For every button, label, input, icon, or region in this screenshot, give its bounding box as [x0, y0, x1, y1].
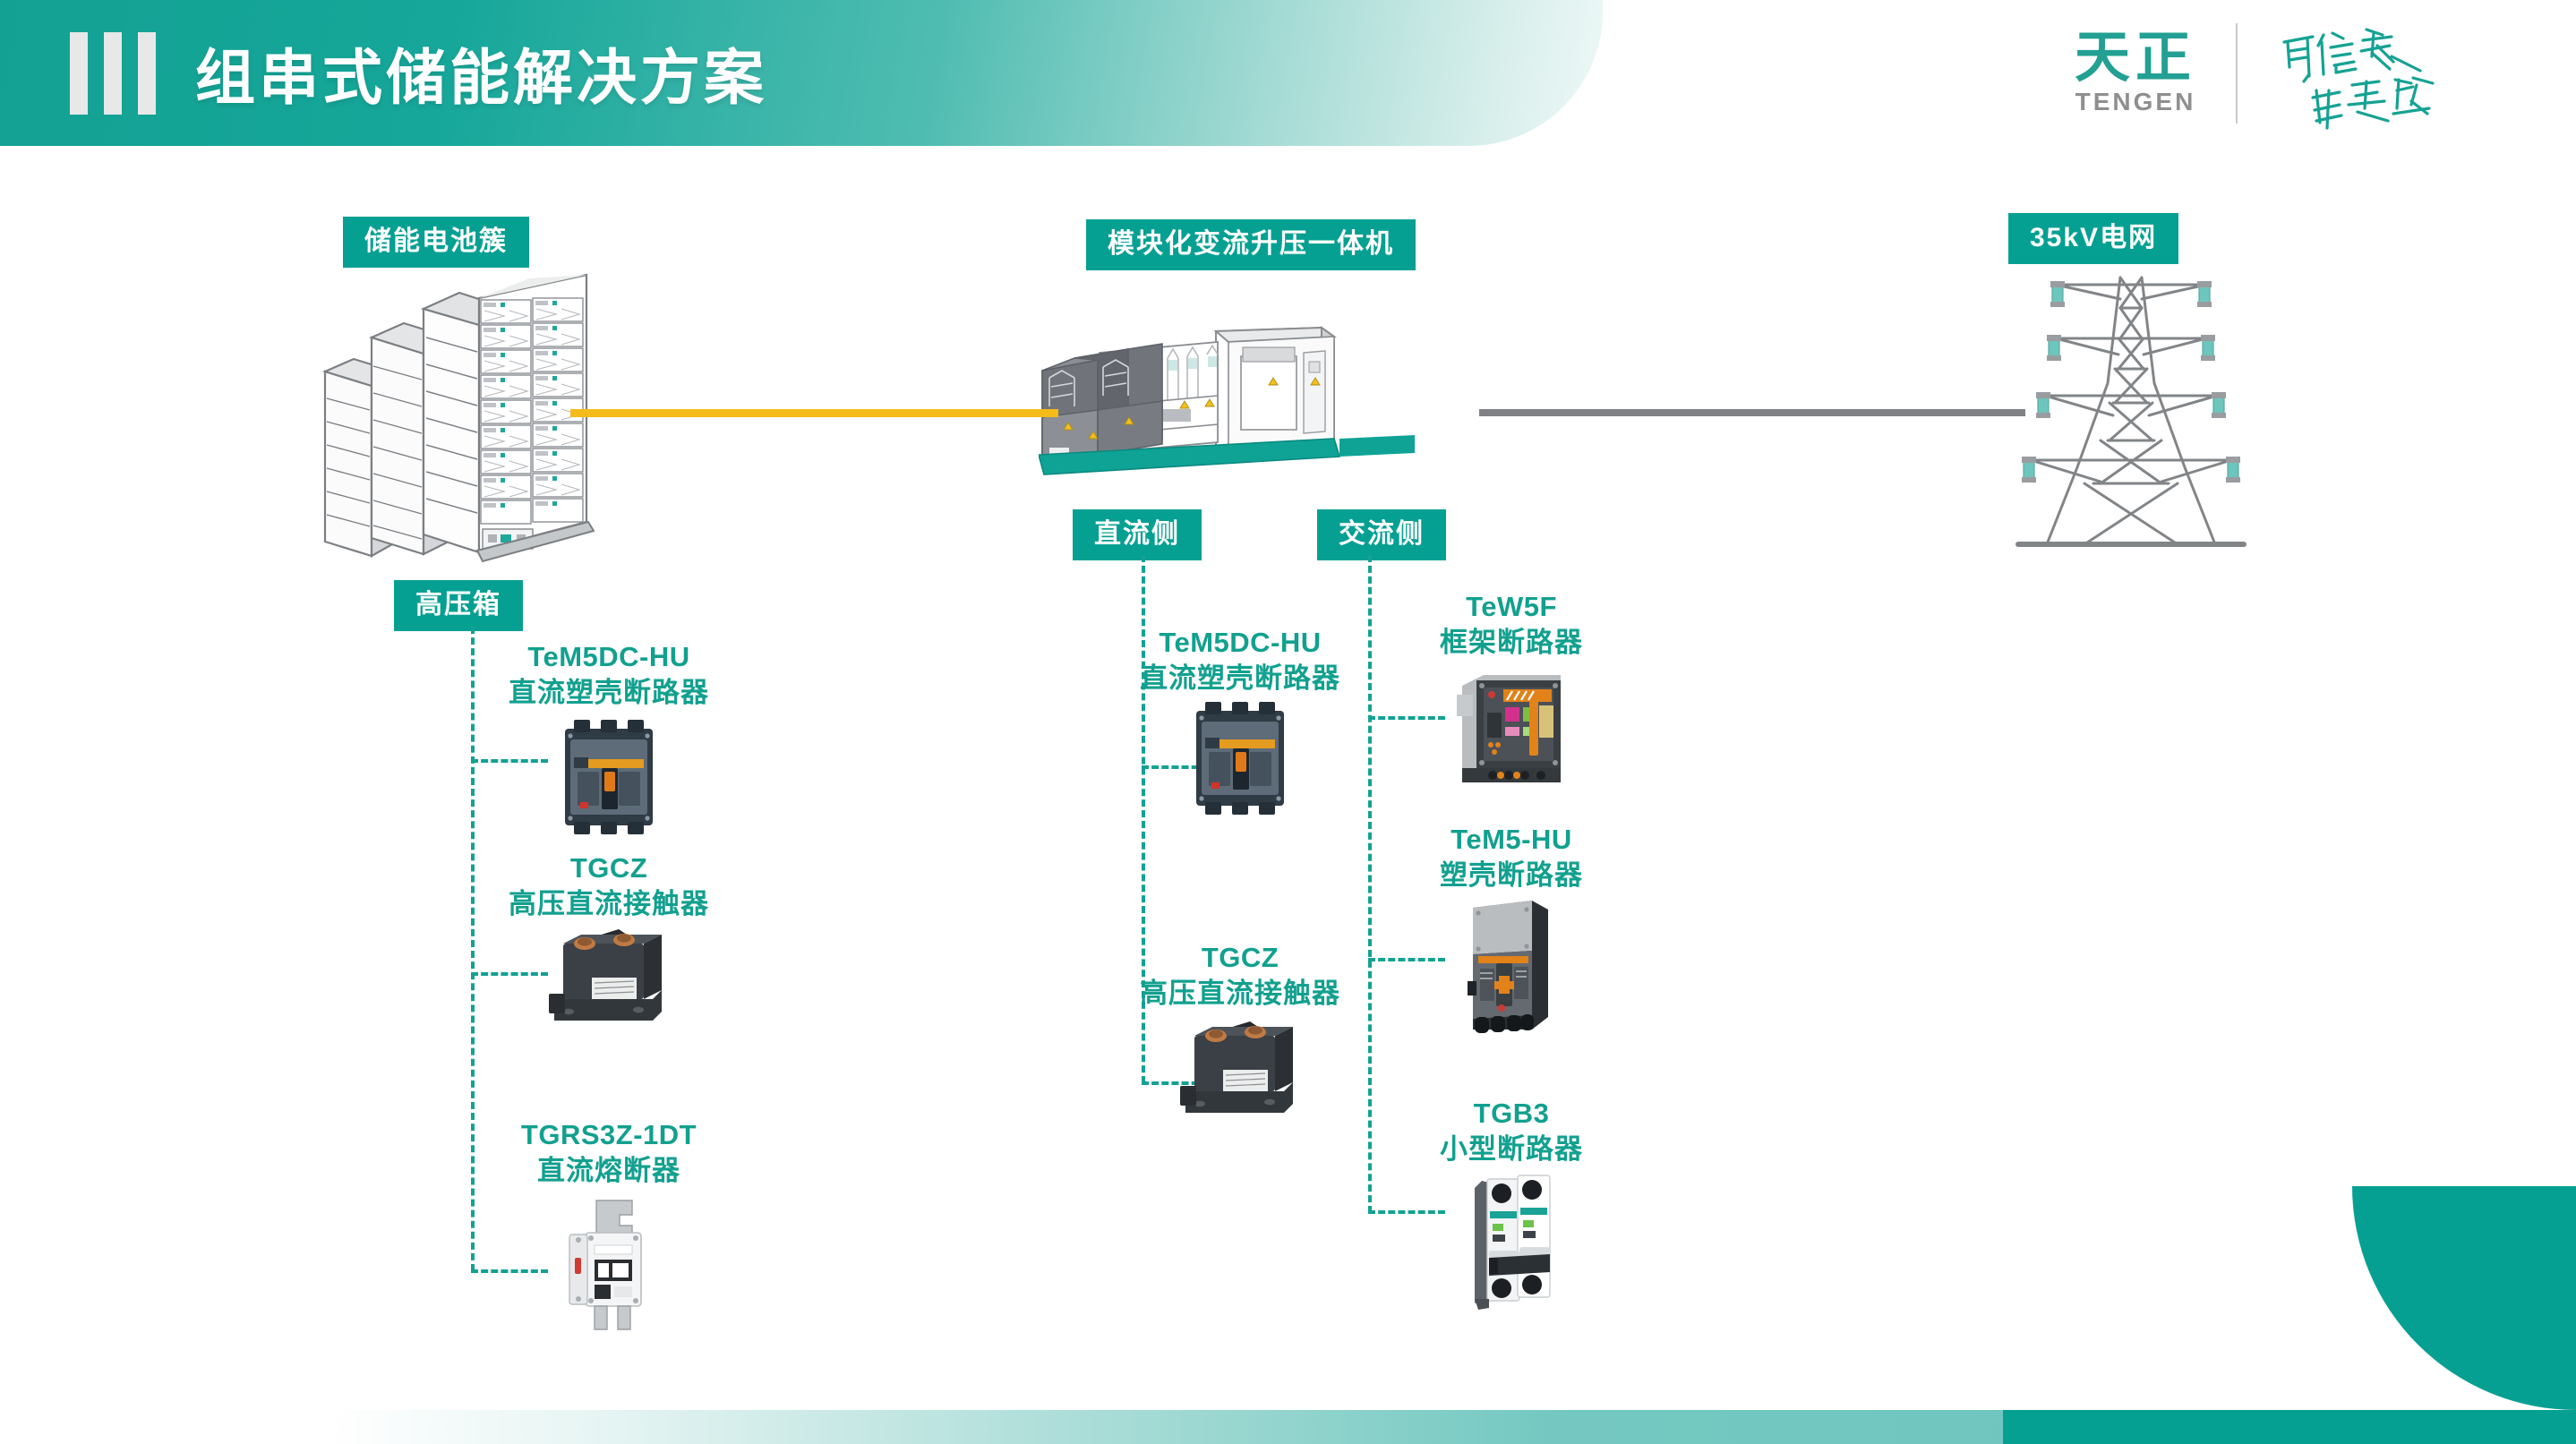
connector-branch-ac-1 [1368, 716, 1445, 720]
footer-gradient-bar [0, 1410, 2346, 1444]
brand-slogan-calligraphy [2277, 15, 2447, 132]
connector-branch-hvb-3 [471, 1269, 548, 1273]
product-desc: 小型断路器 [1440, 1132, 1583, 1167]
product-desc: 高压直流接触器 [1140, 976, 1340, 1012]
accent-bar-3 [138, 32, 156, 115]
mccb-dc-icon-hvb [551, 716, 667, 838]
connector-branch-ac-3 [1368, 1210, 1445, 1214]
product-desc: 直流塑壳断路器 [1140, 661, 1340, 696]
product-desc: 直流熔断器 [521, 1153, 697, 1189]
tag-grid: 35kV电网 [2008, 213, 2178, 264]
connector-branch-hvb-1 [471, 759, 548, 763]
battery-rack-illustration [318, 273, 604, 568]
miniature-circuit-breaker-icon [1462, 1168, 1561, 1313]
product-model: TGB3 [1440, 1096, 1583, 1132]
product-caption-hvb-2: TGCZ 高压直流接触器 [509, 850, 709, 923]
tengen-logo: 天正 TENGEN [2075, 30, 2196, 116]
page-header: 组串式储能解决方案 [0, 0, 1603, 146]
footer-solid-bar [2003, 1410, 2576, 1444]
tag-high-voltage-box: 高压箱 [394, 580, 523, 631]
product-desc: 高压直流接触器 [509, 886, 709, 922]
product-model: TGRS3Z-1DT [521, 1117, 697, 1153]
product-model: TeM5DC-HU [509, 639, 709, 675]
product-caption-hvb-3: TGRS3Z-1DT 直流熔断器 [521, 1117, 697, 1190]
ac-bus-line [1479, 409, 2025, 416]
product-caption-hvb-1: TeM5DC-HU 直流塑壳断路器 [509, 639, 709, 712]
product-desc: 框架断路器 [1440, 625, 1583, 661]
product-caption-ac-3: TGB3 小型断路器 [1440, 1096, 1583, 1168]
tag-battery-cluster: 储能电池簇 [343, 217, 529, 268]
header-accent-bars [70, 32, 156, 115]
brand-name-cn: 天正 [2075, 30, 2196, 86]
mccb-dc-icon-dcside [1183, 698, 1297, 818]
brand-name-en: TENGEN [2075, 88, 2196, 116]
footer-corner-curve [2352, 1186, 2576, 1410]
product-caption-ac-2: TeM5-HU 塑壳断路器 [1440, 822, 1583, 894]
dc-fuse-icon-hvb [555, 1195, 663, 1344]
hv-dc-contactor-icon-hvb [542, 924, 676, 1031]
pcs-container-illustration [1039, 320, 1415, 482]
dc-bus-line [570, 409, 1058, 417]
tag-dc-side: 直流侧 [1073, 509, 1202, 560]
air-circuit-breaker-icon [1453, 664, 1570, 784]
brand-divider [2236, 23, 2238, 124]
product-model: TeM5-HU [1440, 822, 1583, 858]
page-title: 组串式储能解决方案 [195, 30, 767, 116]
product-caption-ac-1: TeW5F 框架断路器 [1440, 589, 1583, 662]
tag-pcs-container: 模块化变流升压一体机 [1086, 219, 1416, 270]
accent-bar-2 [104, 32, 122, 115]
connector-branch-ac-2 [1368, 958, 1445, 961]
brand-block: 天正 TENGEN [2003, 0, 2576, 146]
product-model: TeW5F [1440, 589, 1583, 625]
transmission-tower-illustration [2015, 269, 2247, 555]
product-desc: 塑壳断路器 [1440, 858, 1583, 893]
connector-trunk-high-voltage-box [471, 627, 475, 1271]
product-caption-dc-2: TGCZ 高压直流接触器 [1140, 940, 1340, 1013]
connector-trunk-ac-side [1368, 555, 1372, 1213]
hv-dc-contactor-icon-dcside [1173, 1016, 1307, 1124]
moulded-case-circuit-breaker-icon [1462, 895, 1561, 1038]
product-model: TGCZ [509, 850, 709, 886]
tag-ac-side: 交流侧 [1317, 509, 1446, 560]
product-model: TGCZ [1140, 940, 1340, 976]
connector-branch-hvb-2 [471, 972, 548, 976]
product-model: TeM5DC-HU [1140, 625, 1340, 661]
product-caption-dc-1: TeM5DC-HU 直流塑壳断路器 [1140, 625, 1340, 697]
accent-bar-1 [70, 32, 88, 115]
product-desc: 直流塑壳断路器 [509, 675, 709, 711]
